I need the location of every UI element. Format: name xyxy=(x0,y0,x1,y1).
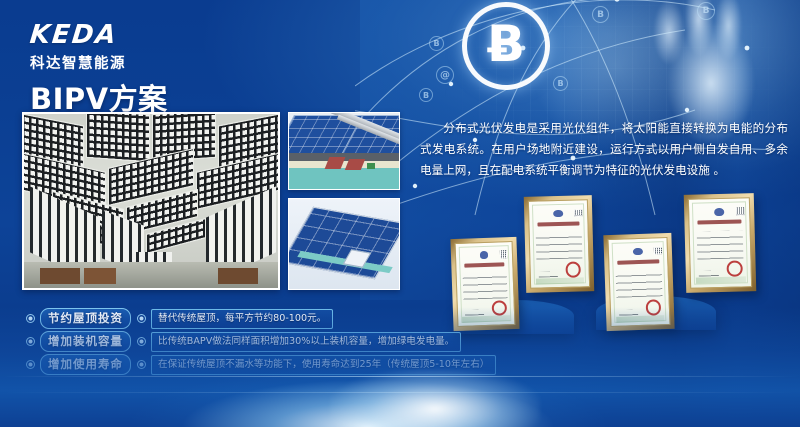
certificate-title xyxy=(698,220,741,225)
bullet-dot-icon xyxy=(137,314,146,323)
bullet-dot-icon xyxy=(26,314,35,323)
bullet-dot-icon xyxy=(137,360,146,369)
certificate-frame[interactable] xyxy=(450,237,519,331)
detail-photo-pv-module xyxy=(288,198,400,290)
certificate-title xyxy=(617,259,659,264)
certificate-seal-icon xyxy=(565,261,581,277)
certificate-title xyxy=(464,262,504,267)
certificate-footer xyxy=(463,315,510,322)
benefit-tag: 节约屋顶投资 xyxy=(40,308,131,329)
atrium-illustration xyxy=(24,114,278,288)
certificate-signature xyxy=(465,309,484,315)
benefit-tag: 增加装机容量 xyxy=(40,331,131,352)
bitcoin-badge-icon: B xyxy=(697,2,715,20)
benefit-description: 替代传统屋顶，每平方节约80-100元。 xyxy=(151,309,333,329)
bitcoin-icon: Ƀ xyxy=(462,2,550,90)
pv-module-illustration xyxy=(289,199,399,289)
bitcoin-badge-icon: B xyxy=(553,76,568,91)
description-paragraph: 分布式光伏发电是采用光伏组件，将太阳能直接转换为电能的分布式发电系统。在用户场地… xyxy=(420,118,788,181)
benefit-list: 节约屋顶投资 替代传统屋顶，每平方节约80-100元。 增加装机容量 比传统BA… xyxy=(26,308,446,377)
certificate-seal-icon xyxy=(491,300,507,316)
certificate-body-text xyxy=(536,231,582,260)
qr-code-icon xyxy=(654,247,662,255)
benefit-description: 在保证传统屋顶不漏水等功能下，使用寿命达到25年（传统屋顶5-10年左右） xyxy=(151,355,496,375)
bullet-dot-icon xyxy=(26,360,35,369)
bitcoin-badge-icon: B xyxy=(592,6,609,23)
network-lines-graphic xyxy=(355,0,800,220)
bitcoin-glyph: Ƀ xyxy=(487,19,525,69)
certificate-emblem-icon xyxy=(553,209,562,217)
certificate-frame[interactable] xyxy=(684,193,757,293)
certificate-body-text xyxy=(616,269,662,298)
certificate-footer xyxy=(536,277,585,284)
qr-code-icon xyxy=(574,209,582,217)
floor-tile-pattern xyxy=(0,418,800,427)
horizon-line xyxy=(0,376,800,377)
benefit-row: 增加装机容量 比传统BAPV做法同样面积增加30%以上装机容量，增加绿电发电量。 xyxy=(26,331,446,352)
qr-code-icon xyxy=(500,250,508,258)
certificate-emblem-icon xyxy=(714,208,724,216)
certificate-footer xyxy=(616,315,665,323)
certificate-body-text xyxy=(696,230,744,259)
certificate-signature xyxy=(538,271,558,278)
certificate-document xyxy=(455,241,516,327)
certificate-document xyxy=(607,237,670,327)
certificate-frame[interactable] xyxy=(603,233,674,331)
benefit-tag: 增加使用寿命 xyxy=(40,354,131,375)
benefit-row: 增加使用寿命 在保证传统屋顶不漏水等功能下，使用寿命达到25年（传统屋顶5-10… xyxy=(26,354,446,375)
brand-logo[interactable]: KEDA 科达智慧能源 xyxy=(30,22,150,73)
certificate-footer xyxy=(696,277,747,284)
floor-light-glow xyxy=(330,369,540,427)
qr-code-icon xyxy=(736,207,744,215)
bitcoin-badge-icon: B xyxy=(429,36,444,51)
mounting-detail-illustration xyxy=(289,113,399,189)
certificate-document xyxy=(528,199,590,289)
bitcoin-badge-icon: B xyxy=(419,88,433,102)
main-photo-atrium xyxy=(22,112,280,290)
background-vertical-panels xyxy=(560,0,800,427)
certificate-title xyxy=(538,221,580,226)
brand-chinese-name: 科达智慧能源 xyxy=(30,52,150,73)
certificate-emblem-icon xyxy=(633,247,643,255)
detail-photo-mounting-clamp xyxy=(288,112,400,190)
certificate-body-text xyxy=(463,272,508,300)
horizon-line xyxy=(0,392,800,393)
brand-wordmark: KEDA xyxy=(29,22,152,48)
bullet-dot-icon xyxy=(26,337,35,346)
at-badge-icon: @ xyxy=(436,66,454,84)
benefit-row: 节约屋顶投资 替代传统屋顶，每平方节约80-100元。 xyxy=(26,308,446,329)
certificate-document xyxy=(688,197,752,289)
certificate-signature xyxy=(618,309,638,316)
certificate-signature xyxy=(699,270,720,277)
certificate-seal-icon xyxy=(727,260,743,277)
certificate-emblem-icon xyxy=(479,251,488,259)
certificate-seal-icon xyxy=(645,299,661,316)
bullet-dot-icon xyxy=(137,337,146,346)
certificate-frame[interactable] xyxy=(524,195,594,293)
benefit-description: 比传统BAPV做法同样面积增加30%以上装机容量，增加绿电发电量。 xyxy=(151,332,461,352)
bipv-poster: Ƀ B B B @ B B KEDA 科达智慧能源 BIPV方案 分布式光伏发电… xyxy=(0,0,800,427)
